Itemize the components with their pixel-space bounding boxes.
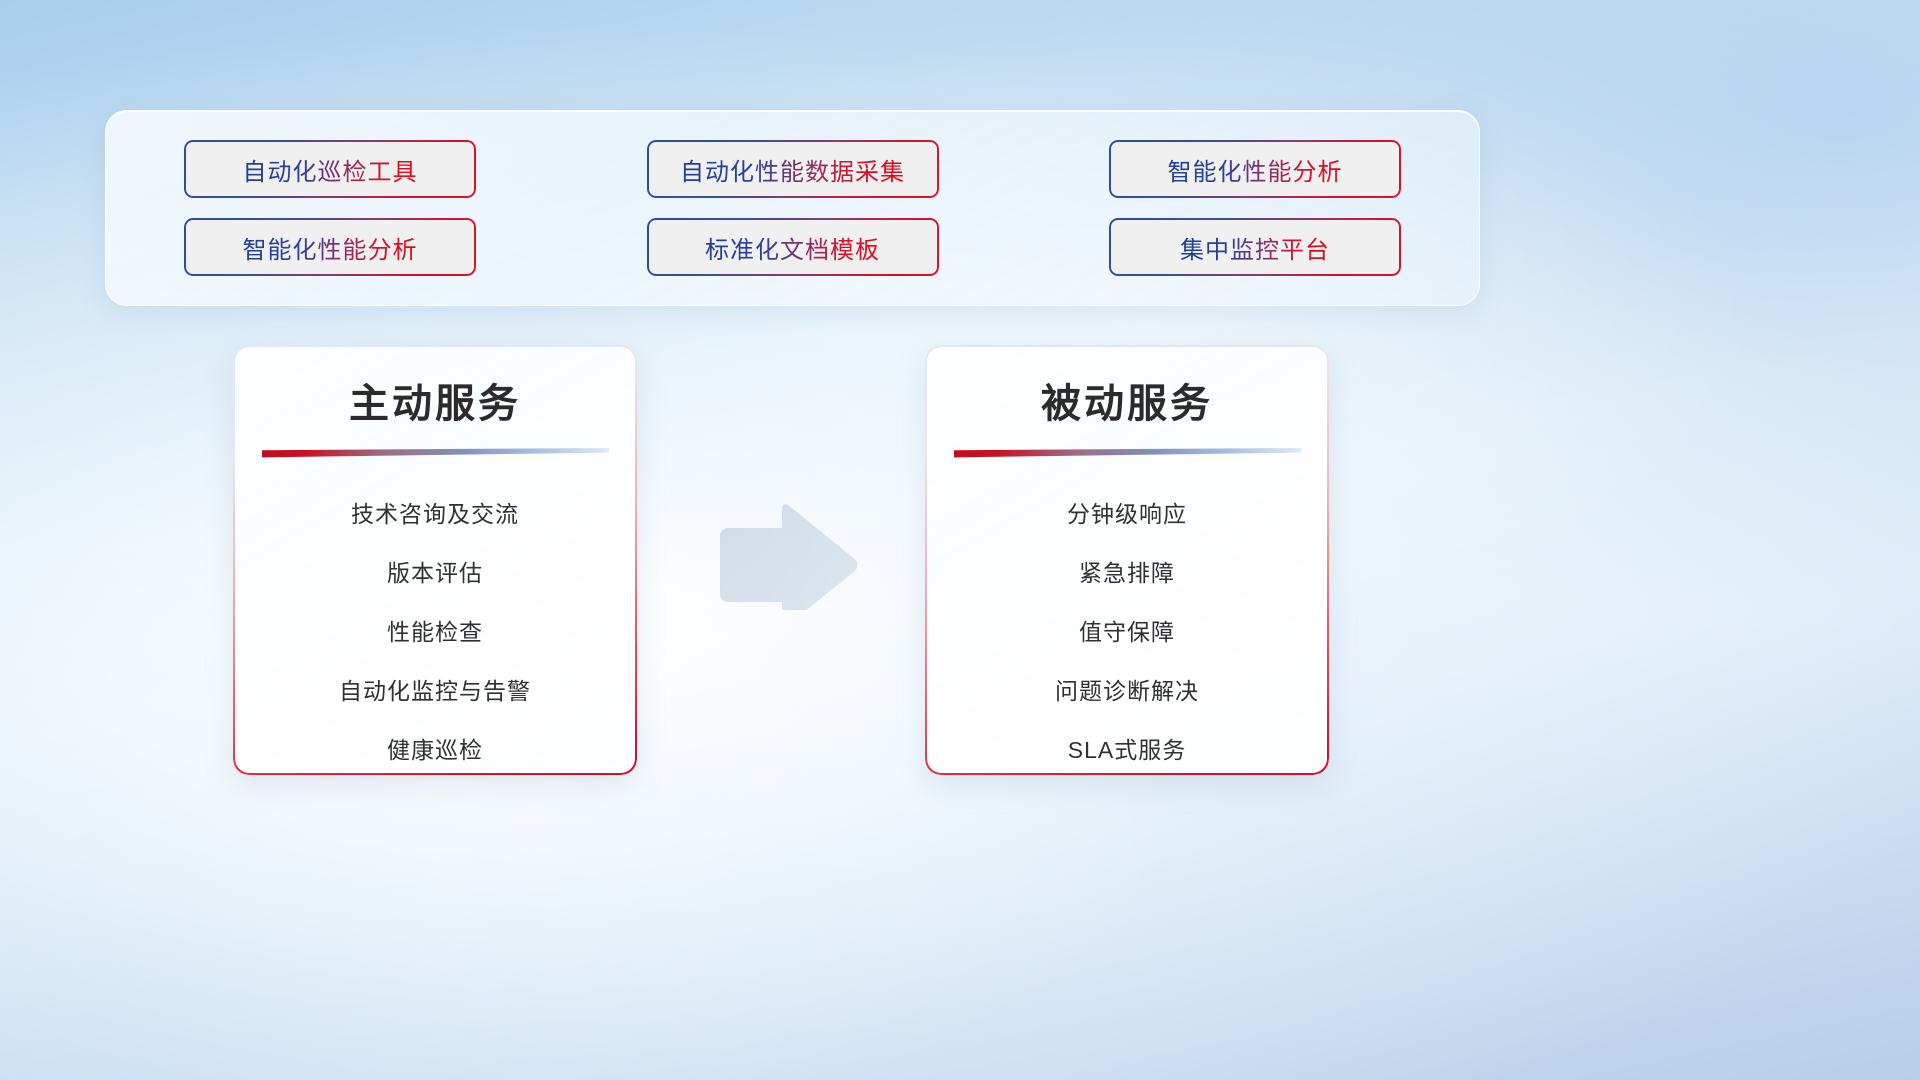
arrow-right-icon [712, 500, 857, 610]
capability-chip-label: 自动化性能数据采集 [680, 152, 905, 187]
service-list-item: 紧急排障 [1079, 544, 1175, 603]
service-list-item: 健康巡检 [387, 721, 483, 775]
capability-chip-automated-inspection-tool[interactable]: 自动化巡检工具 [184, 140, 476, 198]
service-list-item: 自动化监控与告警 [339, 662, 531, 721]
card-divider-gradient-wedge [262, 448, 609, 459]
service-list-item: 值守保障 [1079, 603, 1175, 662]
service-card-reactive: 被动服务 分钟级响应 紧急排障 值守保障 问题诊断解决 SLA式服务 [925, 345, 1329, 775]
capability-chip-label: 智能化性能分析 [1168, 152, 1343, 187]
capability-chip-label: 智能化性能分析 [243, 230, 418, 265]
capability-chip-label: 自动化巡检工具 [243, 152, 418, 187]
service-list-item: SLA式服务 [1068, 721, 1186, 775]
service-list-item: 技术咨询及交流 [351, 485, 519, 544]
service-card-title: 被动服务 [925, 371, 1329, 429]
capability-chip-intelligent-performance-analysis-2[interactable]: 智能化性能分析 [184, 218, 476, 276]
capability-chip-centralized-monitoring-platform[interactable]: 集中监控平台 [1109, 218, 1401, 276]
service-card-list: 技术咨询及交流 版本评估 性能检查 自动化监控与告警 健康巡检 [233, 485, 637, 775]
service-card-list: 分钟级响应 紧急排障 值守保障 问题诊断解决 SLA式服务 [925, 485, 1329, 775]
capability-row-2: 智能化性能分析 标准化文档模板 集中监控平台 [184, 218, 1401, 276]
capability-row-1: 自动化巡检工具 自动化性能数据采集 智能化性能分析 [184, 140, 1401, 198]
card-divider-gradient-wedge [954, 448, 1301, 459]
capability-chip-label: 集中监控平台 [1180, 230, 1330, 265]
capability-chip-standard-document-template[interactable]: 标准化文档模板 [647, 218, 939, 276]
service-card-proactive: 主动服务 技术咨询及交流 版本评估 性能检查 自动化监控与告警 健康巡检 [233, 345, 637, 775]
capability-chip-intelligent-performance-analysis[interactable]: 智能化性能分析 [1109, 140, 1401, 198]
service-list-item: 版本评估 [387, 544, 483, 603]
capability-panel: 自动化巡检工具 自动化性能数据采集 智能化性能分析 智能化性能分析 标准化文档模… [105, 110, 1480, 306]
service-card-title: 主动服务 [233, 371, 637, 429]
capability-chip-automated-performance-data-collection[interactable]: 自动化性能数据采集 [647, 140, 939, 198]
service-list-item: 性能检查 [387, 603, 483, 662]
service-list-item: 分钟级响应 [1067, 485, 1187, 544]
service-list-item: 问题诊断解决 [1055, 662, 1199, 721]
capability-chip-label: 标准化文档模板 [705, 230, 880, 265]
